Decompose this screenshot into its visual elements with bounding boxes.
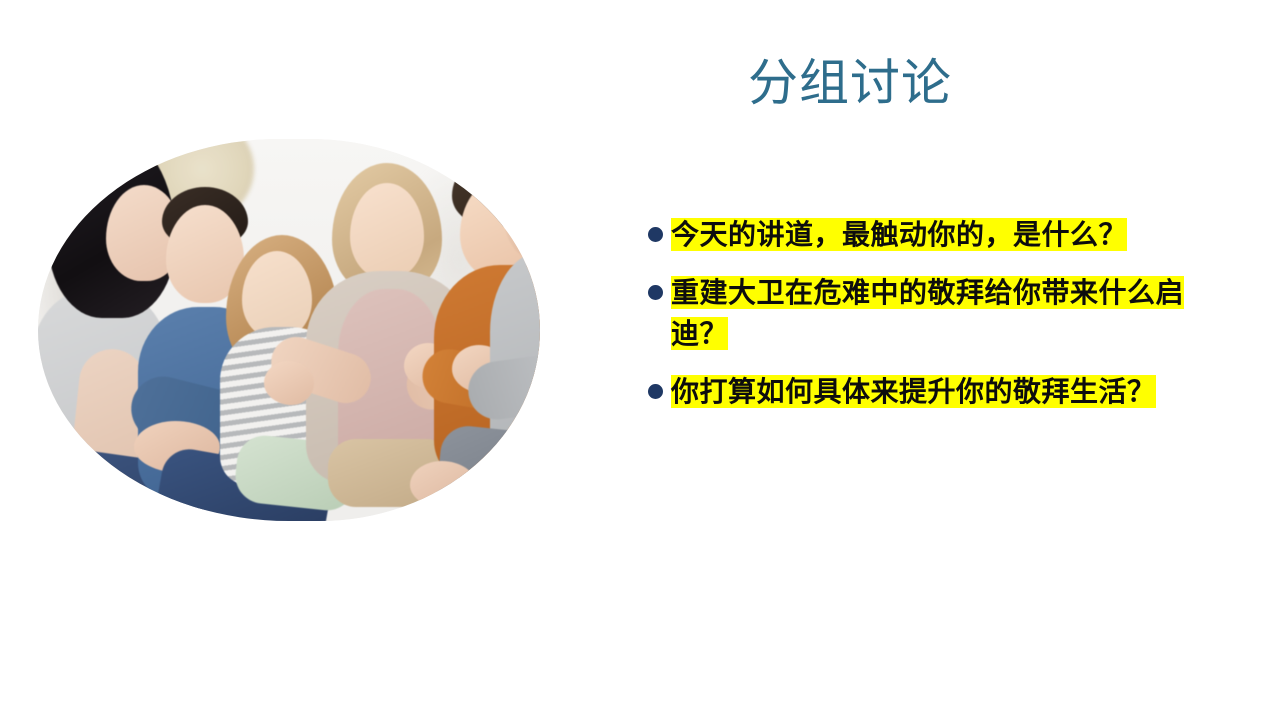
person3-head [242,251,312,339]
person4-head [350,183,424,279]
bullet-text: 你打算如何具体来提升你的敬拜生活？ [671,371,1184,412]
slide-title: 分组讨论 [600,52,1100,114]
bullet-list: 今天的讲道，最触动你的，是什么？ 重建大卫在危难中的敬拜给你带来什么启迪？ 你打… [648,214,1184,412]
bullet-text-highlight: 重建大卫在危难中的敬拜给你带来什么启迪？ [671,276,1184,350]
photo-artwork [38,139,540,521]
bullet-text-highlight: 今天的讲道，最触动你的，是什么？ [671,218,1127,251]
list-item: 重建大卫在危难中的敬拜给你带来什么启迪？ [648,272,1184,354]
bullet-dot-icon [648,384,663,399]
bullet-text-highlight: 你打算如何具体来提升你的敬拜生活？ [671,375,1156,408]
group-discussion-image [38,139,540,521]
person6-hand [410,461,476,509]
bullet-dot-icon [648,227,663,242]
presentation-slide: 分组讨论 [0,0,1280,720]
list-item: 今天的讲道，最触动你的，是什么？ [648,214,1184,255]
person4-hand-left [264,361,314,405]
list-item: 你打算如何具体来提升你的敬拜生活？ [648,371,1184,412]
bullet-dot-icon [648,285,663,300]
bullet-text: 今天的讲道，最触动你的，是什么？ [671,214,1184,255]
bullet-text: 重建大卫在危难中的敬拜给你带来什么启迪？ [671,272,1184,354]
